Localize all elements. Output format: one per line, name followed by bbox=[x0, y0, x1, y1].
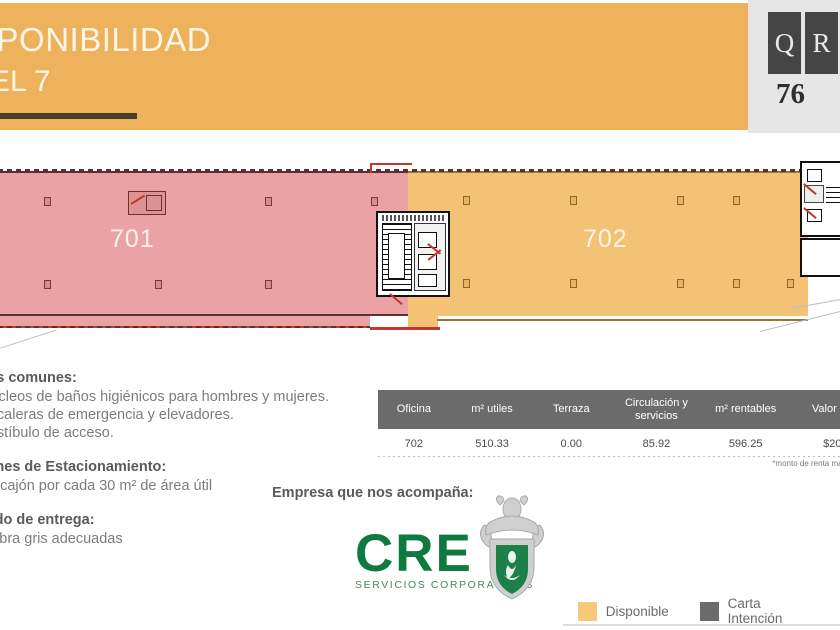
column-marker bbox=[371, 197, 378, 206]
common-areas-line-3: Vestíbulo de acceso. bbox=[0, 425, 300, 441]
suite-701-area bbox=[0, 171, 408, 316]
legend-swatch-carta-intencion bbox=[700, 602, 719, 621]
core-header-band bbox=[382, 215, 444, 221]
brand-letter-box-q: Q bbox=[768, 12, 801, 74]
delivery-line: Obra gris adecuadas bbox=[0, 531, 300, 547]
col-header-oficina: Oficina bbox=[378, 390, 450, 429]
elevator-cab-icon bbox=[418, 274, 437, 287]
suite-702-area-lower bbox=[408, 316, 438, 327]
plan-notch-wall bbox=[370, 163, 412, 173]
page-header: DISPONIBILIDAD NIVEL 7 Q R O 76 bbox=[0, 0, 840, 133]
table-head: Oficina m² utiles Terraza Circulación y … bbox=[378, 390, 840, 429]
restroom-fixture-icon bbox=[807, 169, 822, 182]
cell-terraza: 0.00 bbox=[534, 429, 608, 459]
stair-run-icon bbox=[826, 183, 840, 203]
column-marker bbox=[733, 196, 740, 205]
column-marker bbox=[463, 196, 470, 205]
col-header-circulacion: Circulación y servicios bbox=[608, 390, 705, 429]
cell-m2-utiles: 510.33 bbox=[450, 429, 535, 459]
column-marker bbox=[677, 279, 684, 288]
col-header-m2-rentables: m² rentables bbox=[705, 390, 787, 429]
table-row: 702 510.33 0.00 85.92 596.25 $20 bbox=[378, 429, 840, 459]
column-marker bbox=[570, 196, 577, 205]
availability-table-wrap: Oficina m² utiles Terraza Circulación y … bbox=[378, 390, 840, 459]
suite-702-label: 702 bbox=[583, 225, 628, 254]
building-core-stairs-elevators bbox=[376, 211, 450, 297]
legend-label-carta-intencion: Carta Intención bbox=[728, 596, 818, 626]
column-marker bbox=[787, 279, 794, 288]
cell-circulacion: 85.92 bbox=[608, 429, 705, 459]
coat-of-arms-icon bbox=[470, 495, 554, 605]
column-marker bbox=[677, 196, 684, 205]
title-underline bbox=[0, 113, 137, 119]
col-header-terraza: Terraza bbox=[534, 390, 608, 429]
col-header-m2-utiles: m² utiles bbox=[450, 390, 535, 429]
page-title: DISPONIBILIDAD bbox=[0, 21, 640, 59]
service-core-lower bbox=[800, 238, 840, 277]
cell-valor-m2: $20 bbox=[787, 429, 840, 459]
column-marker bbox=[265, 280, 272, 289]
column-marker bbox=[44, 197, 51, 206]
column-marker bbox=[570, 279, 577, 288]
footer-divider bbox=[563, 624, 840, 626]
site-guide-line bbox=[0, 329, 57, 352]
fixture-inner bbox=[146, 195, 162, 211]
brand-letter-box-r: R bbox=[805, 12, 838, 74]
stair-well-icon bbox=[388, 233, 405, 279]
floor-plan: 701 702 bbox=[0, 133, 840, 365]
brand-number: 76 bbox=[776, 78, 805, 111]
table-bottom-divider bbox=[378, 456, 840, 457]
plan-bottom-wall-amber bbox=[437, 319, 808, 321]
info-spacer bbox=[0, 496, 300, 512]
building-info-block: Áreas comunes: Núcleos de baños higiénic… bbox=[0, 370, 300, 549]
cell-oficina: 702 bbox=[378, 429, 450, 459]
elevator-cab-icon bbox=[418, 232, 437, 248]
status-legend: Disponible Carta Intención bbox=[578, 596, 840, 626]
suite-701-label: 701 bbox=[110, 225, 155, 254]
header-banner: DISPONIBILIDAD NIVEL 7 bbox=[0, 3, 748, 130]
parking-line: 1 cajón por cada 30 m² de área útil bbox=[0, 478, 300, 494]
column-marker bbox=[44, 280, 51, 289]
table-header-row: Oficina m² utiles Terraza Circulación y … bbox=[378, 390, 840, 429]
brand-letter-boxes: Q R O bbox=[768, 12, 840, 74]
common-areas-line-1: Núcleos de baños higiénicos para hombres… bbox=[0, 389, 300, 405]
table-footnote: *monto de renta más IVA más bbox=[772, 459, 840, 468]
column-marker bbox=[733, 279, 740, 288]
delivery-heading: Estado de entrega: bbox=[0, 512, 300, 528]
table-body: 702 510.33 0.00 85.92 596.25 $20 bbox=[378, 429, 840, 459]
elevator-cab-icon bbox=[418, 254, 437, 270]
availability-table: Oficina m² utiles Terraza Circulación y … bbox=[378, 390, 840, 459]
column-marker bbox=[463, 279, 470, 288]
column-marker bbox=[155, 280, 162, 289]
plan-bottom-wall-red bbox=[370, 327, 440, 330]
common-areas-line-2: Escaleras de emergencia y elevadores. bbox=[0, 407, 300, 423]
info-spacer bbox=[0, 443, 300, 459]
common-areas-heading: Áreas comunes: bbox=[0, 370, 300, 386]
partner-heading: Empresa que nos acompaña: bbox=[272, 485, 473, 501]
plan-bottom-wall bbox=[0, 326, 370, 328]
brand-logo-panel: Q R O 76 bbox=[748, 0, 840, 133]
page-subtitle: NIVEL 7 bbox=[0, 65, 640, 99]
legend-label-disponible: Disponible bbox=[606, 604, 669, 619]
column-marker bbox=[265, 197, 272, 206]
service-core-upper bbox=[800, 161, 840, 237]
col-header-valor-m2: Valor m² bbox=[787, 390, 840, 429]
cell-m2-rentables: 596.25 bbox=[705, 429, 787, 459]
parking-heading: Cajones de Estacionamiento: bbox=[0, 459, 300, 475]
legend-swatch-disponible bbox=[578, 602, 597, 621]
